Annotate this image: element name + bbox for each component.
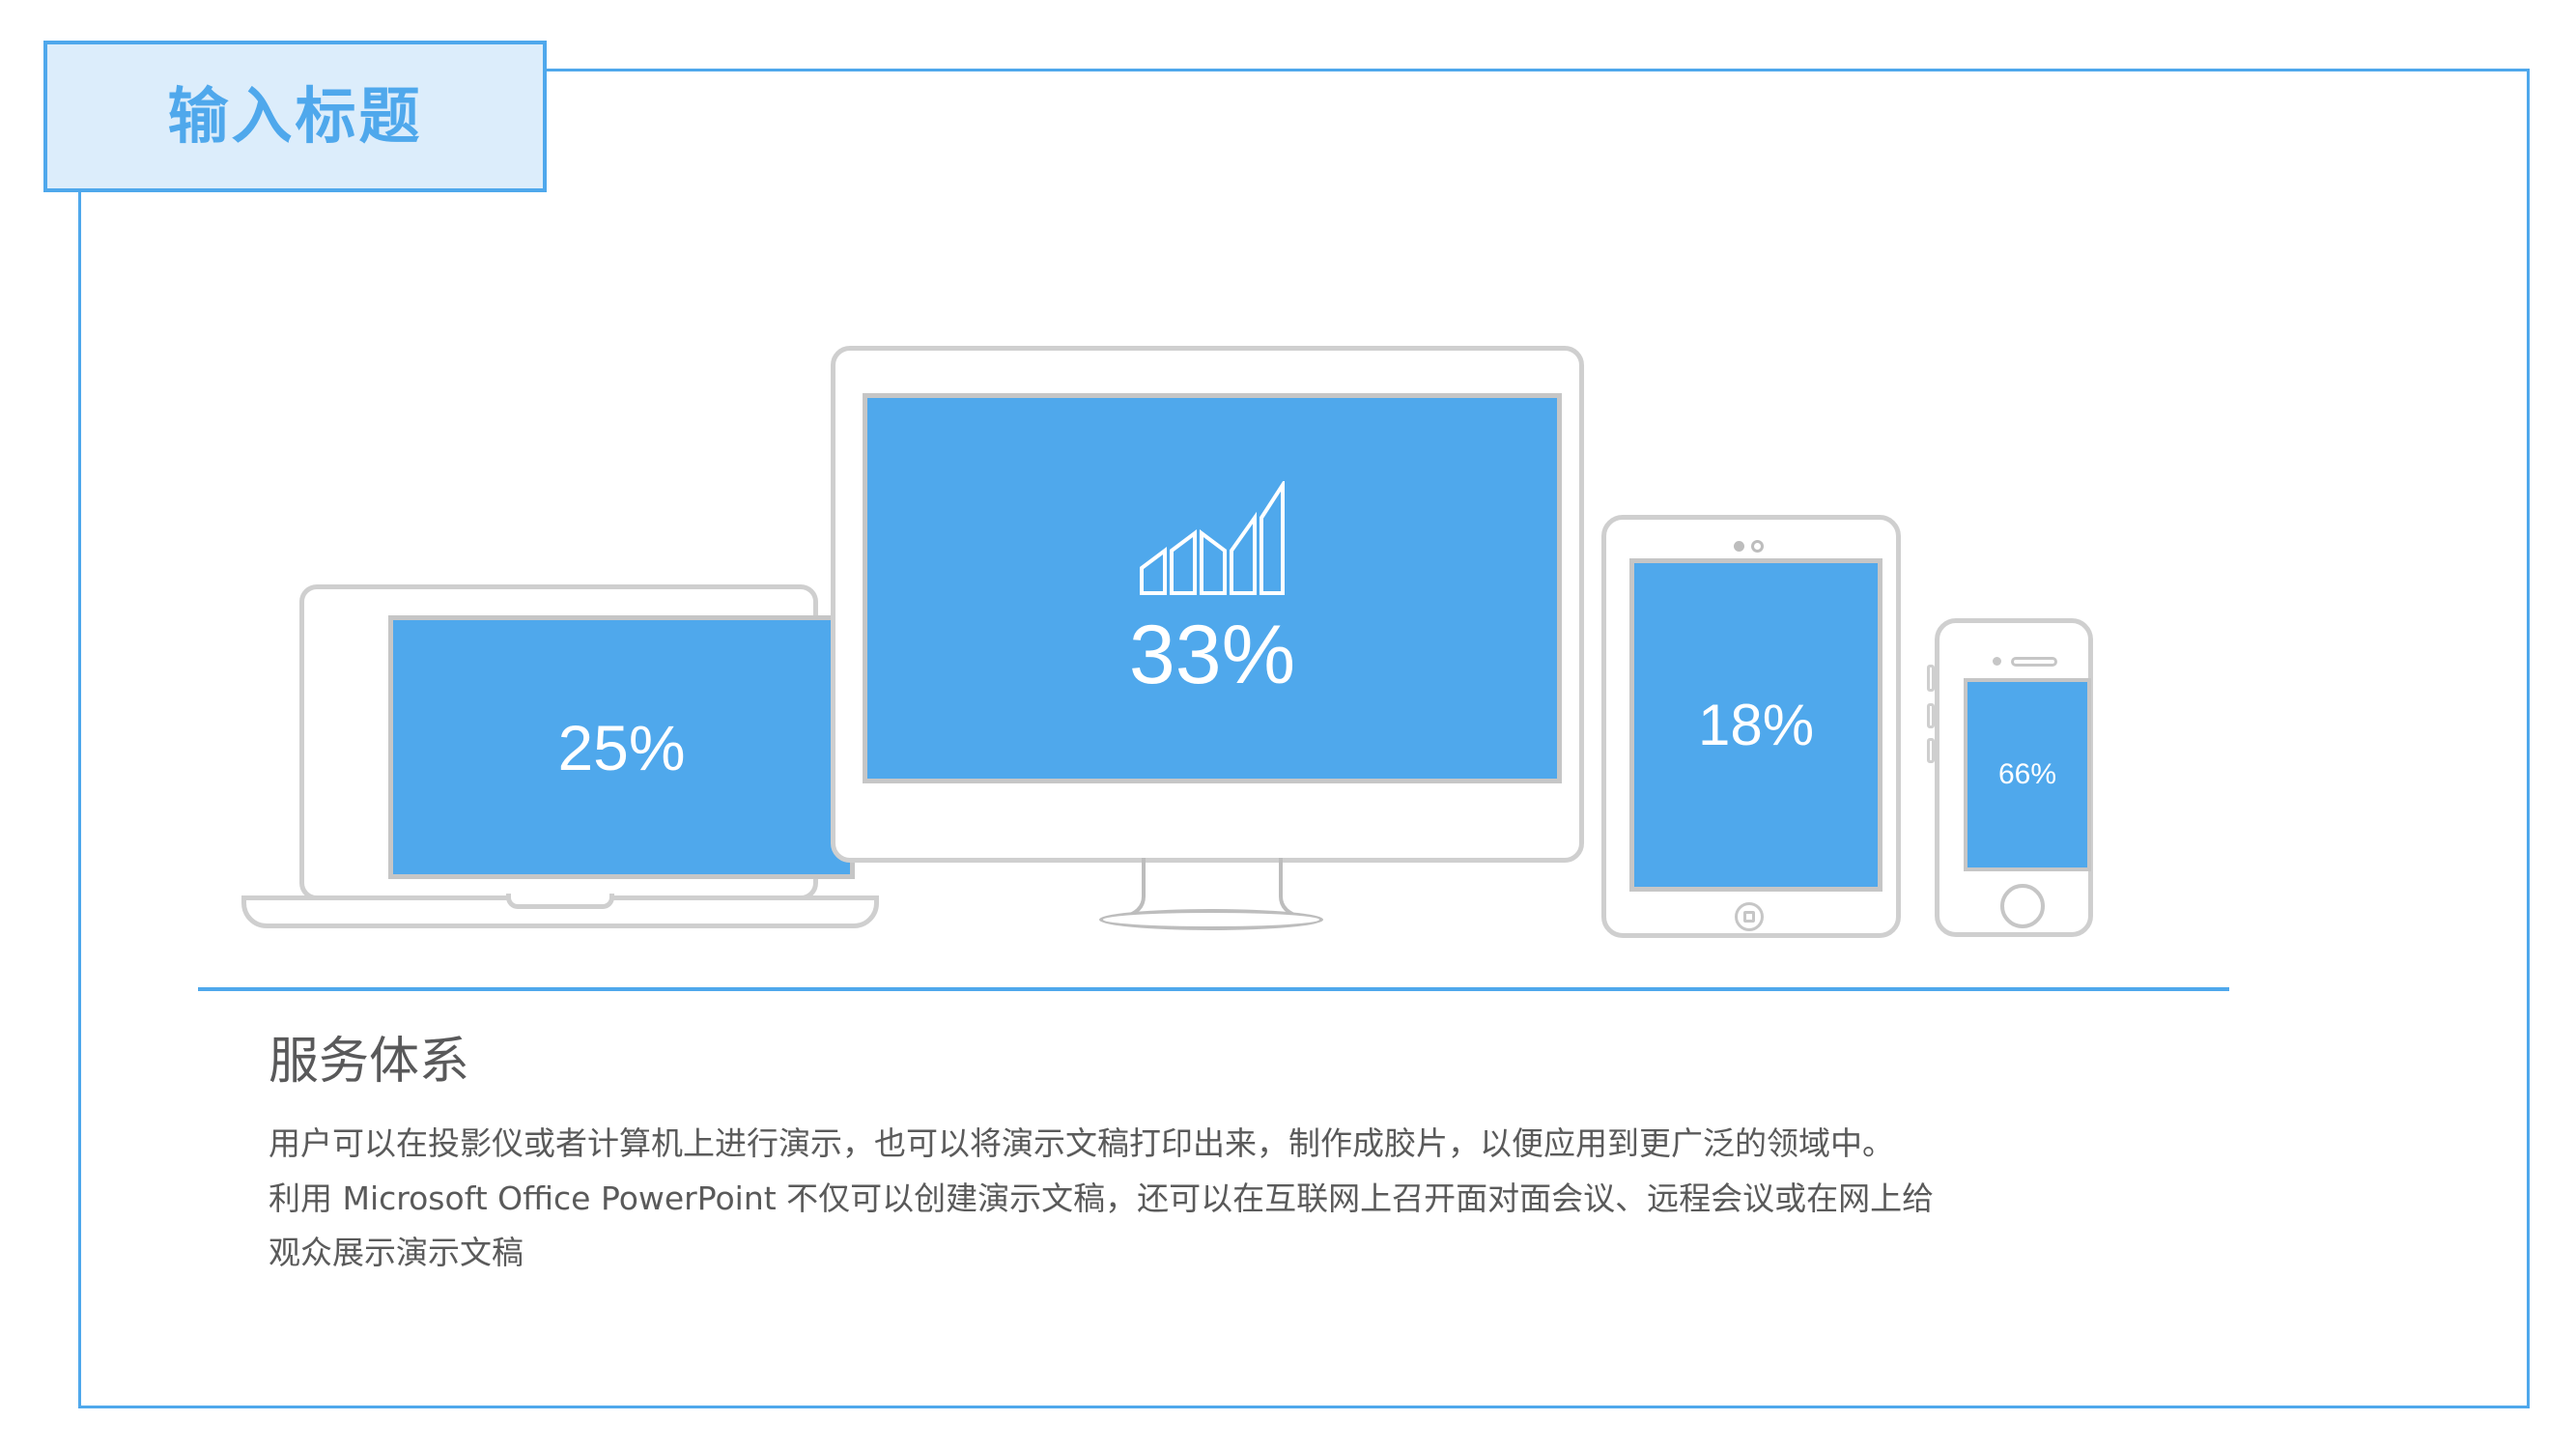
laptop-percent-label: 25% [557,716,685,780]
tablet-screen: 18% [1629,558,1882,892]
tablet-bezel: 18% [1601,515,1901,938]
page-title: 输入标题 [168,86,423,147]
content-text-block: 服务体系 用户可以在投影仪或者计算机上进行演示，也可以将演示文稿打印出来，制作成… [269,1034,2258,1281]
content-divider [198,987,2229,991]
paragraph-line-3: 观众展示演示文稿 [269,1226,2258,1281]
laptop-screen: 25% [388,615,855,879]
monitor-screen: 33% [863,393,1562,783]
slide-title-box: 输入标题 [43,41,547,192]
device-monitor: 33% [831,346,1584,945]
device-tablet: 18% [1601,515,1901,938]
phone-volume-up-button-icon [1927,703,1935,728]
phone-camera-icon [1993,657,2001,666]
bar-chart-icon [1139,481,1286,600]
tablet-camera-ring-icon [1751,540,1764,553]
tablet-sensor-dot-icon [1734,541,1744,552]
phone-percent-label: 66% [1998,760,2056,789]
laptop-trackpad-notch [506,894,614,909]
monitor-percent-label: 33% [1129,613,1295,696]
section-heading: 服务体系 [269,1034,2258,1092]
device-laptop: 25% [241,584,879,947]
paragraph-line-1: 用户可以在投影仪或者计算机上进行演示，也可以将演示文稿打印出来，制作成胶片，以便… [269,1117,2258,1172]
tablet-home-button-icon [1735,902,1764,931]
tablet-home-square-icon [1743,911,1755,923]
tablet-camera-icon [1734,539,1778,553]
phone-bezel: 66% [1935,618,2093,937]
monitor-bezel: 33% [831,346,1584,863]
device-phone: 66% [1927,618,2093,937]
slide-canvas: 输入标题 25% [0,0,2576,1449]
tablet-percent-label: 18% [1698,696,1814,754]
phone-home-button-icon [2000,884,2045,928]
monitor-stand-foot [1099,909,1323,930]
paragraph-line-2: 利用 Microsoft Office PowerPoint 不仅可以创建演示文… [269,1172,2258,1227]
phone-screen: 66% [1964,678,2091,871]
phone-speaker-icon [2011,657,2057,667]
phone-mute-switch-icon [1927,665,1935,692]
phone-volume-down-button-icon [1927,738,1935,763]
laptop-lid: 25% [299,584,818,900]
